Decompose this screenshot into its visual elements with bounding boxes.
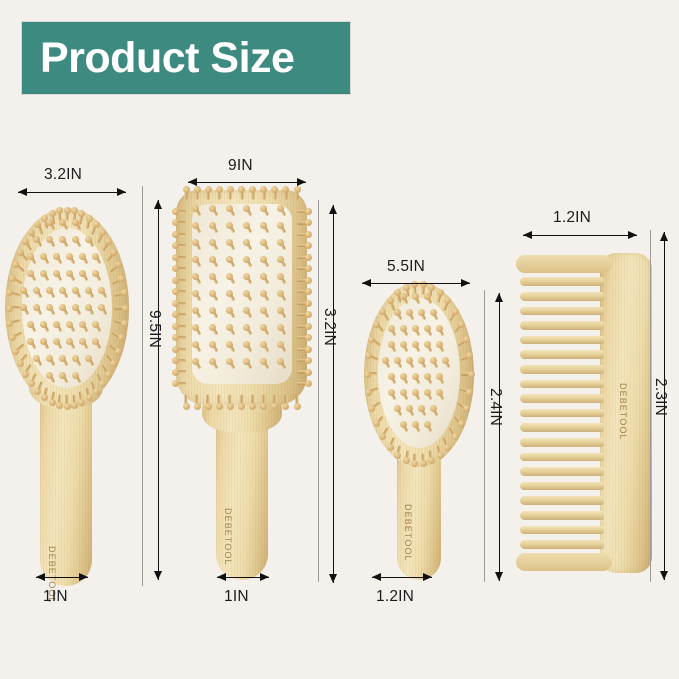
bristle-tip <box>98 287 105 294</box>
bristle-tip <box>428 457 435 464</box>
bristle-tip <box>277 205 284 212</box>
bristle-tip <box>444 297 451 304</box>
comb-tooth <box>520 438 604 447</box>
bristle-tip <box>172 334 179 341</box>
bristle-tip <box>92 321 99 328</box>
bristle-tip <box>411 460 418 467</box>
bristle-tip <box>72 372 79 379</box>
bristle-tip <box>93 388 100 395</box>
bristle-tip <box>209 307 216 314</box>
comb-tooth <box>520 277 604 286</box>
bristle-tip <box>260 324 267 331</box>
bristle-tip <box>243 324 250 331</box>
bristle-tip <box>243 290 250 297</box>
bristle-tip <box>260 256 267 263</box>
comb-tooth <box>520 423 604 432</box>
bristle-tip <box>452 308 459 315</box>
bristle-tip <box>238 403 245 410</box>
dim-arrow-mini-handle <box>372 577 432 578</box>
bristle-tip <box>260 358 267 365</box>
bristle-tip <box>277 222 284 229</box>
bristle-tip <box>9 275 16 282</box>
bristle-tip <box>368 336 375 343</box>
bristle-tip <box>428 284 435 291</box>
bristle-tip <box>260 290 267 297</box>
bristle-tip <box>277 307 284 314</box>
bristle-tip <box>209 205 216 212</box>
bristle-tip <box>115 348 122 355</box>
bristle-tip <box>271 186 278 193</box>
comb-end-cap-top <box>516 255 612 273</box>
bristle-tip <box>458 321 465 328</box>
bristle-tip <box>40 321 47 328</box>
bristle-tip <box>226 324 233 331</box>
bristle-tip <box>243 358 250 365</box>
bristle-tip <box>183 186 190 193</box>
bristle-tip <box>209 324 216 331</box>
bristle-tip <box>121 320 128 327</box>
bristle-tip <box>172 231 179 238</box>
bristle-tip <box>192 239 199 246</box>
bristle-tip <box>243 256 250 263</box>
bristle-tip <box>46 372 53 379</box>
bristle-tip <box>172 357 179 364</box>
bristle-tip <box>118 334 125 341</box>
bristle-tip <box>66 321 73 328</box>
bristle-tip <box>22 371 29 378</box>
bristle-tip <box>260 307 267 314</box>
bristle-tip <box>277 358 284 365</box>
bristle-tip <box>216 186 223 193</box>
bristle-tip <box>192 256 199 263</box>
bristle-tip <box>209 273 216 280</box>
comb-tooth <box>520 365 604 374</box>
bristle-tip <box>93 221 100 228</box>
bristle-tip <box>98 304 105 311</box>
bristle-tip <box>46 304 53 311</box>
bristle-tip <box>172 254 179 261</box>
product-size-infographic: Product Size DEBETOOL DEBETOOL DEBETOOL <box>0 0 679 679</box>
bristle-tip <box>66 270 73 277</box>
comb-tooth <box>520 380 604 389</box>
dim-arrow-comb-width <box>523 235 637 236</box>
bristle-tip <box>33 236 40 243</box>
comb-end-cap-bottom <box>516 553 612 571</box>
bristle-tip <box>387 297 394 304</box>
bristle-tip <box>92 270 99 277</box>
bristle-tip <box>56 207 63 214</box>
bristle-tip <box>59 219 66 226</box>
comb-tooth <box>520 394 604 403</box>
comb-tooth <box>520 409 604 418</box>
bristle-tip <box>420 460 427 467</box>
bristle-tip <box>437 452 444 459</box>
bristle-tip <box>115 261 122 268</box>
bristle-tip <box>172 346 179 353</box>
bristle-tip <box>192 341 199 348</box>
bristle-tip <box>59 236 66 243</box>
bristle-tip <box>305 311 312 318</box>
bristle-tip <box>79 270 86 277</box>
bristle-tip <box>205 403 212 410</box>
bristle-tip <box>85 287 92 294</box>
bristle-tip <box>121 289 128 296</box>
bristle-tip <box>49 210 56 217</box>
bristle-tip <box>192 222 199 229</box>
bristle-tip <box>79 338 86 345</box>
bristle-tip <box>34 388 41 395</box>
bristle-tip <box>209 358 216 365</box>
bristle-tip <box>227 186 234 193</box>
dim-arrow-oval-handle <box>36 577 88 578</box>
bristle-tip <box>192 273 199 280</box>
bristle-tip <box>260 205 267 212</box>
dim-label-mini-height: 2.4IN <box>486 388 504 426</box>
bristle-tip <box>305 380 312 387</box>
bristle-tip <box>172 277 179 284</box>
comb-tooth <box>520 511 604 520</box>
bristle-tip <box>226 273 233 280</box>
bristle-tip <box>226 222 233 229</box>
bristle-tip <box>92 253 99 260</box>
bristle-tip <box>463 336 470 343</box>
bristle-tip <box>172 323 179 330</box>
bristle-tip <box>394 452 401 459</box>
bristle-tip <box>209 341 216 348</box>
bristle-tip <box>260 341 267 348</box>
bristle-tip <box>305 300 312 307</box>
bristle-tip <box>86 215 93 222</box>
bristle-tip <box>64 207 71 214</box>
bristle-tip <box>305 242 312 249</box>
bristle-tip <box>226 256 233 263</box>
bristle-tip <box>46 219 53 226</box>
bristle-tip <box>172 265 179 272</box>
bristle-tip <box>305 288 312 295</box>
bristle-tip <box>305 369 312 376</box>
bristle-tip <box>92 338 99 345</box>
bristle-tip <box>79 321 86 328</box>
bristle-tip <box>105 238 112 245</box>
dim-label-oval-width: 3.2IN <box>44 166 82 184</box>
bristle-tip <box>466 352 473 359</box>
bristle-tip <box>205 186 212 193</box>
bristle-tip <box>17 360 24 367</box>
bristle-tip <box>305 254 312 261</box>
bristle-tip <box>194 403 201 410</box>
bristle-tip <box>226 358 233 365</box>
bristle-tip <box>6 305 13 312</box>
bristle-tip <box>294 186 301 193</box>
bristle-tip <box>452 433 459 440</box>
dim-arrow-mini-width <box>362 283 470 284</box>
bristle-tip <box>373 420 380 427</box>
bristle-tip <box>249 186 256 193</box>
comb-tooth <box>520 526 604 535</box>
bristle-tip <box>260 222 267 229</box>
bristle-tip <box>27 321 34 328</box>
bristle-tip <box>403 457 410 464</box>
bristle-tip <box>305 323 312 330</box>
bristle-tip <box>305 231 312 238</box>
bristle-tip <box>305 357 312 364</box>
bristle-tip <box>86 394 93 401</box>
bristle-tip <box>72 355 79 362</box>
title-banner: Product Size <box>22 22 350 94</box>
bristle-tip <box>458 420 465 427</box>
bristle-tip <box>243 341 250 348</box>
dim-label-mini-handle: 1.2IN <box>376 588 414 606</box>
comb-tooth <box>520 496 604 505</box>
comb-tooth <box>520 307 604 316</box>
bristle-tip <box>85 355 92 362</box>
bristle-tip <box>59 304 66 311</box>
comb-tooth <box>520 467 604 476</box>
bristle-tip <box>9 334 16 341</box>
bristle-tip <box>226 239 233 246</box>
bristle-tip <box>260 239 267 246</box>
bristle-tip <box>85 236 92 243</box>
bristle-tip <box>17 249 24 256</box>
bristle-tip <box>72 304 79 311</box>
bristle-tip <box>46 355 53 362</box>
bristle-tip <box>365 389 372 396</box>
bristle-tip <box>226 290 233 297</box>
bristle-tip <box>71 207 78 214</box>
bristle-tip <box>110 360 117 367</box>
bristle-tip <box>172 369 179 376</box>
bristle-tip <box>53 321 60 328</box>
bristle-tip <box>172 242 179 249</box>
comb-tooth <box>520 350 604 359</box>
bristle-tip <box>227 403 234 410</box>
bristle-tip <box>59 372 66 379</box>
bristle-tip <box>27 253 34 260</box>
bristle-tip <box>27 270 34 277</box>
dim-label-paddle-width: 9IN <box>228 157 253 175</box>
bristle-tip <box>226 205 233 212</box>
dim-label-comb-width: 1.2IN <box>553 209 591 227</box>
oval-brush-head <box>5 208 129 408</box>
bristle-tip <box>260 186 267 193</box>
bristle-tip <box>243 205 250 212</box>
bristle-tip <box>305 346 312 353</box>
bristle-tip <box>192 358 199 365</box>
bristle-tip <box>379 433 386 440</box>
mini-brush-brand-engraving: DEBETOOL <box>403 504 413 562</box>
bristle-tip <box>40 338 47 345</box>
bristle-tip <box>305 219 312 226</box>
bristle-tip <box>59 355 66 362</box>
dim-arrow-paddle-height <box>333 205 334 583</box>
dim-label-oval-handle: 1IN <box>43 588 68 606</box>
dim-label-oval-height: 9.5IN <box>145 310 163 348</box>
bristle-tip <box>216 403 223 410</box>
bristle-tip <box>260 273 267 280</box>
bristle-tip <box>172 208 179 215</box>
bristle-tip <box>41 394 48 401</box>
product-paddle-brush: DEBETOOL <box>176 190 308 590</box>
bristle-tip <box>249 403 256 410</box>
bristle-tip <box>294 403 301 410</box>
bristle-tip <box>387 444 394 451</box>
bristle-tip <box>172 300 179 307</box>
bristle-tip <box>277 324 284 331</box>
bristle-tip <box>282 186 289 193</box>
bristle-tip <box>28 380 35 387</box>
mini-brush-head <box>364 282 474 467</box>
bristle-tip <box>226 341 233 348</box>
page-title: Product Size <box>40 37 294 80</box>
bristle-tip <box>172 288 179 295</box>
bristle-tip <box>243 307 250 314</box>
bristle-tip <box>6 320 13 327</box>
bristle-tip <box>79 253 86 260</box>
bristle-tip <box>183 403 190 410</box>
bristle-tip <box>277 341 284 348</box>
bristle-tip <box>46 236 53 243</box>
dim-label-paddle-handle: 1IN <box>224 588 249 606</box>
bristle-tip <box>20 304 27 311</box>
bristle-tip <box>403 284 410 291</box>
bristle-tip <box>46 287 53 294</box>
bristle-tip <box>27 338 34 345</box>
bristle-tip <box>172 380 179 387</box>
comb-tooth <box>520 321 604 330</box>
bristle-tip <box>66 338 73 345</box>
bristle-tip <box>282 403 289 410</box>
dim-arrow-oval-width <box>18 192 126 193</box>
bristle-tip <box>411 281 418 288</box>
bristle-tip <box>105 371 112 378</box>
bristle-tip <box>99 380 106 387</box>
bristle-tip <box>368 405 375 412</box>
bristle-tip <box>243 273 250 280</box>
bristle-tip <box>277 239 284 246</box>
dim-label-paddle-height: 3.2IN <box>320 308 338 346</box>
bristle-tip <box>40 253 47 260</box>
product-mini-brush: DEBETOOL <box>364 282 476 582</box>
bristle-tip <box>59 287 66 294</box>
bristle-tip <box>12 348 19 355</box>
bristle-tip <box>172 219 179 226</box>
bristle-tip <box>40 270 47 277</box>
bristle-tip <box>209 290 216 297</box>
bristle-tip <box>72 219 79 226</box>
bristle-tip <box>305 334 312 341</box>
bristle-tip <box>192 290 199 297</box>
bristle-tip <box>72 236 79 243</box>
bristle-tip <box>305 265 312 272</box>
bristle-tip <box>192 324 199 331</box>
bristle-tip <box>66 253 73 260</box>
comb-tooth <box>520 540 604 549</box>
product-wide-tooth-comb: DEBETOOL <box>512 253 652 573</box>
bristle-tip <box>118 275 125 282</box>
dim-arrow-oval-height <box>158 200 159 580</box>
bristle-tip <box>305 208 312 215</box>
bristle-tip <box>194 186 201 193</box>
bristle-tip <box>420 281 427 288</box>
dim-label-mini-width: 5.5IN <box>387 258 425 276</box>
bristle-tip <box>209 222 216 229</box>
comb-tooth <box>520 292 604 301</box>
comb-tooth <box>520 453 604 462</box>
bristle-tip <box>364 371 371 378</box>
bristle-tip <box>56 402 63 409</box>
bristle-tip <box>305 277 312 284</box>
bristle-tip <box>463 405 470 412</box>
comb-tooth <box>520 336 604 345</box>
dim-arrow-paddle-handle <box>217 577 269 578</box>
bristle-tip <box>71 402 78 409</box>
dim-arrow-mini-height <box>499 293 500 581</box>
bristle-tip <box>20 287 27 294</box>
paddle-brush-brand-engraving: DEBETOOL <box>223 508 233 566</box>
bristle-tip <box>468 371 475 378</box>
dim-label-comb-height: 2.3IN <box>651 378 669 416</box>
bristle-tip <box>49 399 56 406</box>
bristle-tip <box>28 229 35 236</box>
bristle-tip <box>172 311 179 318</box>
bristle-tip <box>64 403 71 410</box>
bristle-tip <box>209 256 216 263</box>
paddle-brush-head <box>176 190 307 405</box>
bristle-tip <box>466 389 473 396</box>
bristle-tip <box>78 210 85 217</box>
bristle-tip <box>437 289 444 296</box>
bristle-tip <box>238 186 245 193</box>
bristle-tip <box>33 304 40 311</box>
guide-paddle-height <box>318 200 319 582</box>
bristle-tip <box>110 249 117 256</box>
bristle-tip <box>277 256 284 263</box>
bristle-tip <box>260 403 267 410</box>
bristle-tip <box>444 444 451 451</box>
bristle-tip <box>33 287 40 294</box>
bristle-tip <box>85 304 92 311</box>
bristle-tip <box>243 239 250 246</box>
bristle-tip <box>209 239 216 246</box>
bristle-tip <box>192 307 199 314</box>
bristle-tip <box>53 338 60 345</box>
bristle-tip <box>277 290 284 297</box>
bristle-tip <box>99 229 106 236</box>
bristle-tip <box>53 253 60 260</box>
dim-arrow-paddle-width <box>188 182 306 183</box>
bristle-tip <box>271 403 278 410</box>
comb-brand-engraving: DEBETOOL <box>618 383 628 441</box>
guide-mini-height <box>484 290 485 582</box>
bristle-tip <box>226 307 233 314</box>
bristle-tip <box>277 273 284 280</box>
bristle-tip <box>72 287 79 294</box>
product-oval-brush: DEBETOOL <box>5 208 130 588</box>
bristle-tip <box>33 355 40 362</box>
bristle-tip <box>122 305 129 312</box>
bristle-tip <box>53 270 60 277</box>
bristle-tip <box>243 222 250 229</box>
comb-tooth <box>520 482 604 491</box>
guide-oval-height <box>142 186 143 586</box>
bristle-tip <box>192 205 199 212</box>
